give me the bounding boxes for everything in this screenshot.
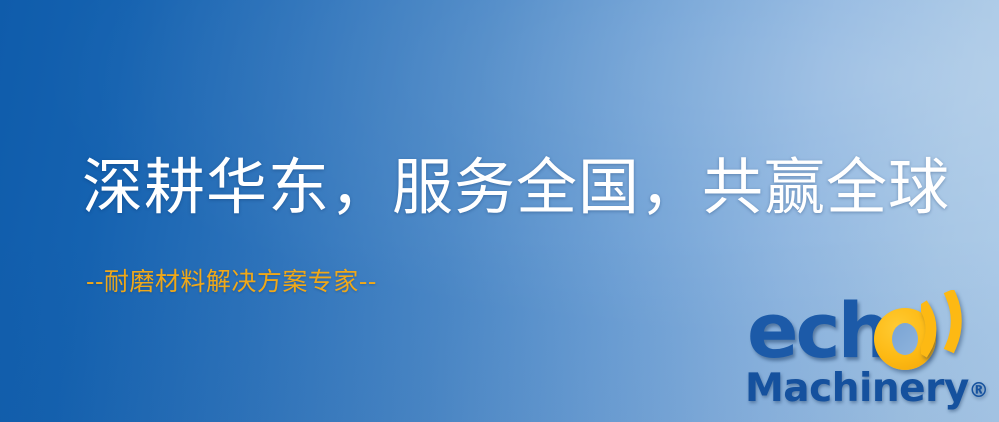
hero-banner: 深耕华东，服务全国，共赢全球 --耐磨材料解决方案专家-- ech Machin… [0,0,999,422]
logo-brand-secondary-text: Machinery [745,366,969,411]
logo-brand-primary-text: ech [747,292,889,370]
signal-waves-icon [921,290,999,366]
logo-wordmark: ech [745,296,995,374]
company-logo[interactable]: ech Machinery® [745,296,995,420]
banner-subtitle: --耐磨材料解决方案专家-- [86,266,377,298]
logo-brand-secondary: Machinery® [745,366,989,413]
registered-trademark-icon: ® [969,378,989,402]
banner-headline: 深耕华东，服务全国，共赢全球 [82,150,950,226]
